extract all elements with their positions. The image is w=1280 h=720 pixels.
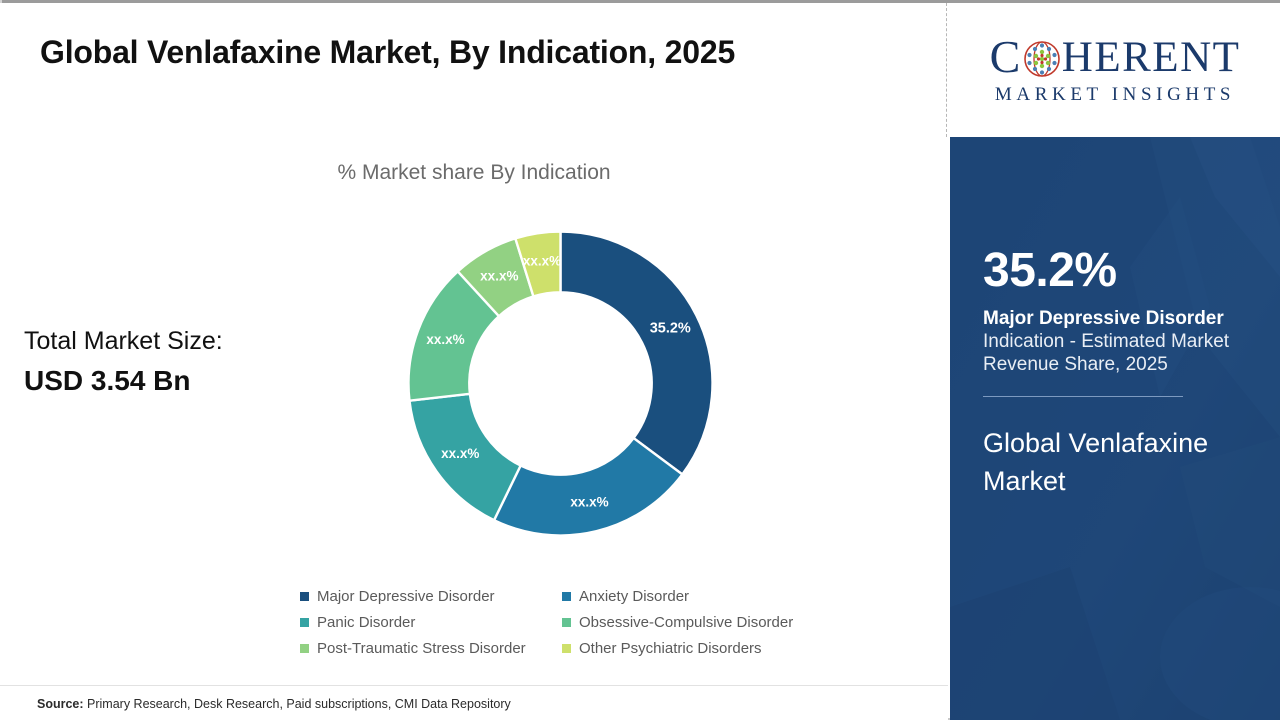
legend-label: Post-Traumatic Stress Disorder — [317, 640, 526, 657]
donut-chart-svg: 35.2%xx.x%xx.x%xx.x%xx.x%xx.x% — [405, 228, 716, 539]
legend-swatch — [300, 644, 309, 653]
logo-tagline: MARKET INSIGHTS — [967, 84, 1263, 106]
main-panel: Global Venlafaxine Market, By Indication… — [0, 3, 948, 720]
chart-legend: Major Depressive DisorderAnxiety Disorde… — [300, 588, 860, 657]
page-title: Global Venlafaxine Market, By Indication… — [40, 34, 735, 71]
sidebar-description-rest: Indication - Estimated Market Revenue Sh… — [983, 331, 1229, 375]
source-note: Source: Primary Research, Desk Research,… — [37, 697, 511, 711]
donut-slice-label: xx.x% — [523, 254, 561, 269]
total-market-size-value: USD 3.54 Bn — [24, 365, 191, 397]
total-market-size-label: Total Market Size: — [24, 327, 223, 356]
legend-swatch — [300, 618, 309, 627]
sidebar-description-bold: Major Depressive Disorder — [983, 308, 1224, 329]
legend-item[interactable]: Major Depressive Disorder — [300, 588, 562, 605]
legend-item[interactable]: Post-Traumatic Stress Disorder — [300, 640, 562, 657]
source-label: Source: — [37, 697, 84, 711]
logo: C — [950, 3, 1280, 137]
legend-label: Panic Disorder — [317, 614, 415, 631]
chart-subtitle: % Market share By Indication — [0, 161, 948, 185]
donut-slice-label: 35.2% — [650, 320, 691, 336]
legend-item[interactable]: Other Psychiatric Disorders — [562, 640, 860, 657]
legend-item[interactable]: Obsessive-Compulsive Disorder — [562, 614, 860, 631]
donut-slice-label: xx.x% — [441, 446, 479, 461]
legend-label: Major Depressive Disorder — [317, 588, 495, 605]
sidebar-market-title: Global Venlafaxine Market — [983, 424, 1247, 502]
legend-swatch — [562, 592, 571, 601]
legend-swatch — [562, 644, 571, 653]
legend-label: Other Psychiatric Disorders — [579, 640, 762, 657]
donut-slice — [561, 232, 713, 475]
legend-swatch — [562, 618, 571, 627]
legend-swatch — [300, 592, 309, 601]
donut-slice-label: xx.x% — [426, 332, 464, 347]
donut-slice — [494, 438, 682, 535]
sidebar-percent: 35.2% — [983, 247, 1247, 295]
globe-icon — [1023, 40, 1061, 78]
donut-slice-label: xx.x% — [570, 494, 608, 509]
legend-item[interactable]: Anxiety Disorder — [562, 588, 860, 605]
vertical-dashed-divider — [946, 3, 947, 137]
donut-chart: 35.2%xx.x%xx.x%xx.x%xx.x%xx.x% — [405, 228, 716, 539]
logo-letters-herent: HERENT — [1062, 36, 1241, 79]
logo-wordmark: C — [967, 34, 1263, 80]
infographic-root: Global Venlafaxine Market, By Indication… — [0, 0, 1280, 720]
logo-letter-c: C — [990, 34, 1022, 80]
donut-slice-label: xx.x% — [480, 269, 518, 284]
legend-item[interactable]: Panic Disorder — [300, 614, 562, 631]
legend-label: Anxiety Disorder — [579, 588, 689, 605]
source-text: Primary Research, Desk Research, Paid su… — [84, 697, 511, 711]
sidebar-divider — [983, 396, 1183, 397]
sidebar-description: Major Depressive Disorder Indication - E… — [983, 307, 1247, 377]
source-divider — [0, 685, 948, 686]
sidebar: 35.2% Major Depressive Disorder Indicati… — [950, 137, 1280, 720]
legend-label: Obsessive-Compulsive Disorder — [579, 614, 793, 631]
